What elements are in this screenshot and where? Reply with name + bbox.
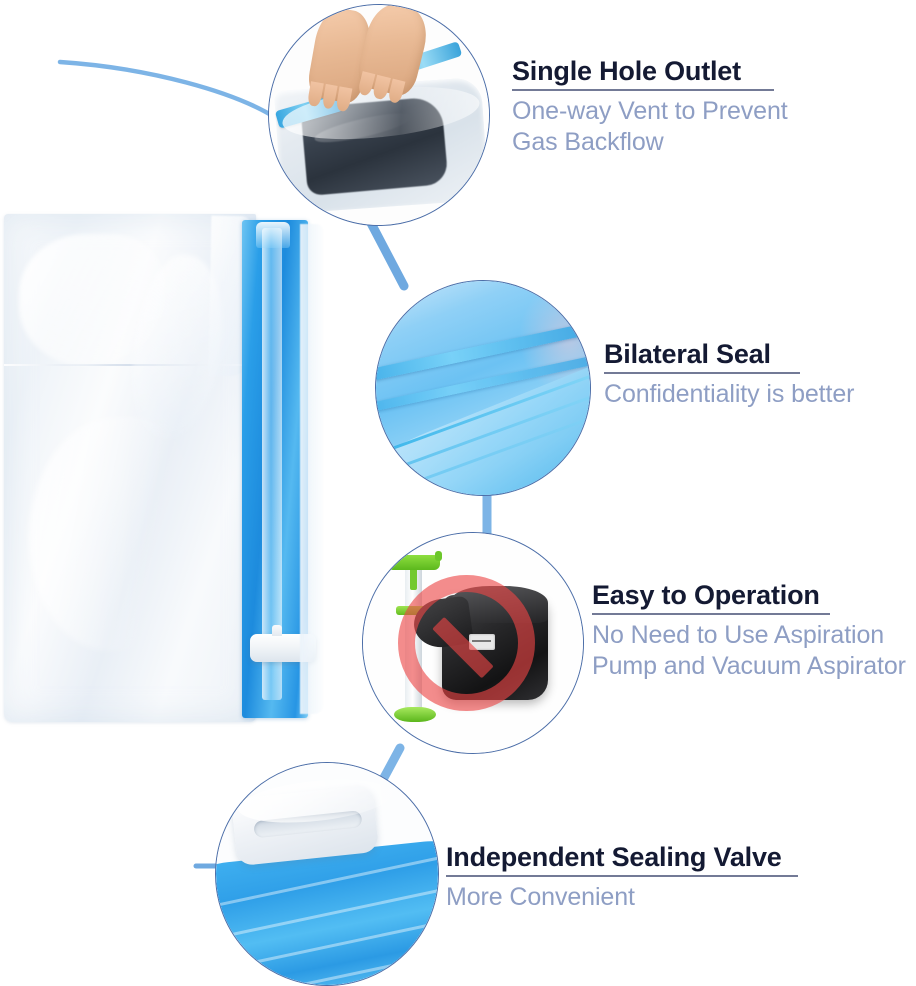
callout-underline <box>604 372 800 374</box>
connector-curve-top <box>60 62 276 118</box>
callout-independent-sealing-valve: Independent Sealing Valve More Convenien… <box>446 842 798 913</box>
callout-subtitle-line: No Need to Use Aspiration <box>592 620 906 652</box>
feature-photo-independent-sealing-valve <box>215 762 439 986</box>
callout-subtitle-line: One-way Vent to Prevent <box>512 96 788 128</box>
feature-photo-easy-to-operation <box>362 532 584 754</box>
bag-highlight <box>19 234 165 366</box>
callout-title: Easy to Operation <box>592 580 906 610</box>
callout-underline <box>592 613 830 615</box>
callout-subtitle-line: Gas Backflow <box>512 127 788 159</box>
feature-photo-bilateral-seal <box>375 280 591 496</box>
callout-easy-to-operation: Easy to Operation No Need to Use Aspirat… <box>592 580 906 683</box>
bag-right-edge <box>300 224 324 714</box>
infographic-canvas: Single Hole Outlet One-way Vent to Preve… <box>0 0 916 982</box>
callout-single-hole-outlet: Single Hole Outlet One-way Vent to Preve… <box>512 56 788 159</box>
hand-pump-base <box>394 707 436 722</box>
feature-photo-single-hole-outlet <box>268 4 490 226</box>
callout-subtitle-line: More Convenient <box>446 882 798 914</box>
callout-underline <box>446 875 798 877</box>
bag-zipper-top <box>256 222 290 248</box>
product-image-vacuum-bag <box>4 214 330 722</box>
callout-title: Bilateral Seal <box>604 339 854 369</box>
prohibition-icon <box>398 575 534 711</box>
callout-underline <box>512 89 774 91</box>
callout-title: Single Hole Outlet <box>512 56 788 86</box>
hand-pump-handle <box>387 555 440 570</box>
callout-subtitle-line: Confidentiality is better <box>604 379 854 411</box>
bag-highlight <box>29 417 195 651</box>
callout-subtitle-line: Pump and Vacuum Aspirator <box>592 651 906 683</box>
callout-bilateral-seal: Bilateral Seal Confidentiality is better <box>604 339 854 410</box>
callout-title: Independent Sealing Valve <box>446 842 798 872</box>
